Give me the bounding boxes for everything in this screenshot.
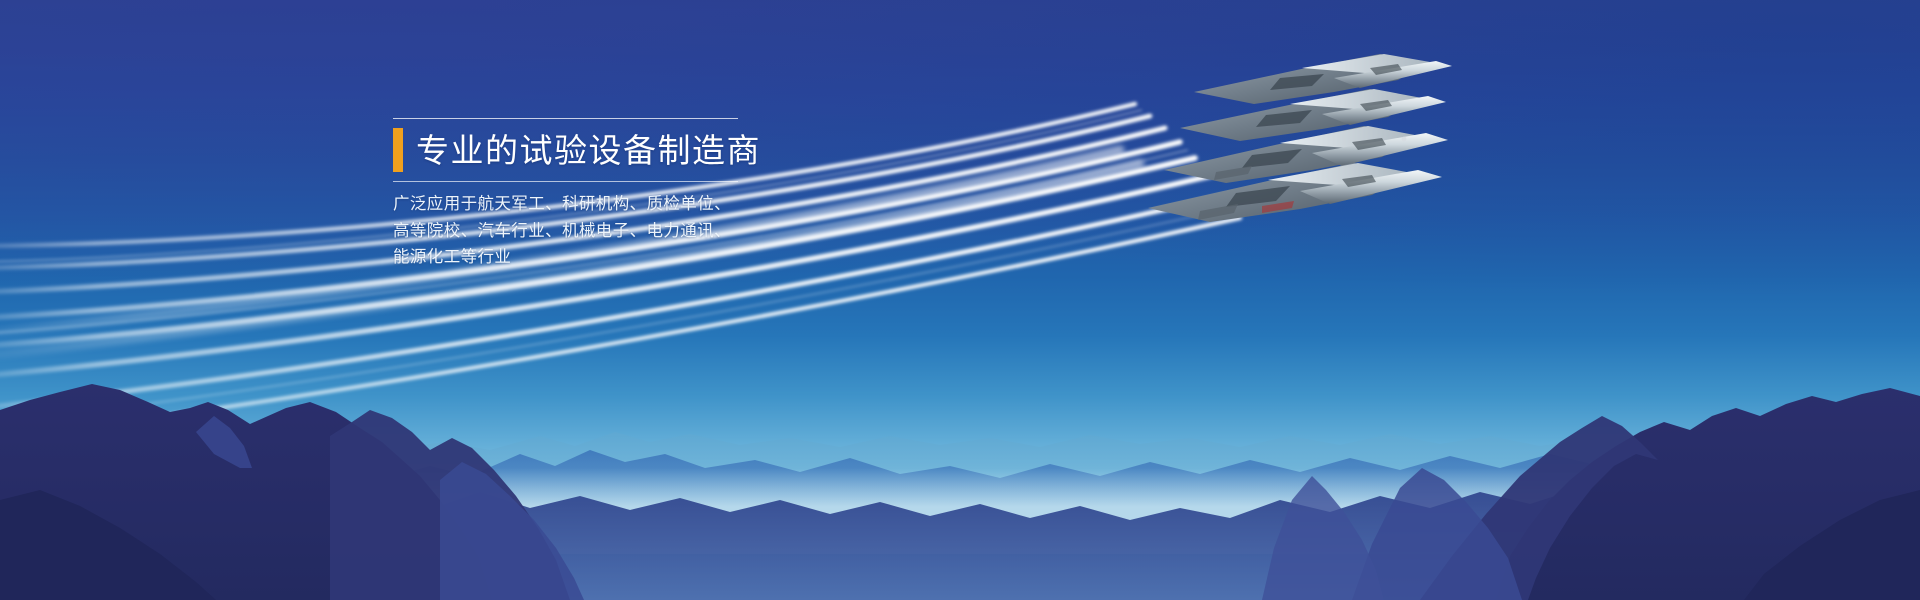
subtitle-line-1: 广泛应用于航天军工、科研机构、质检单位、	[393, 191, 738, 218]
page-title: 专业的试验设备制造商	[416, 134, 761, 167]
accent-bar	[393, 128, 403, 172]
hero-banner: 专业的试验设备制造商 广泛应用于航天军工、科研机构、质检单位、 高等院校、汽车行…	[0, 0, 1920, 600]
jet-formation-icon	[1120, 40, 1540, 270]
headline-row: 专业的试验设备制造商	[393, 119, 738, 181]
mountain-range-silhouette	[0, 350, 1920, 600]
subtitle-line-2: 高等院校、汽车行业、机械电子、电力通讯、	[393, 218, 738, 245]
banner-copy: 专业的试验设备制造商 广泛应用于航天军工、科研机构、质检单位、 高等院校、汽车行…	[393, 118, 738, 271]
bottom-divider	[393, 181, 738, 182]
subtitle-line-3: 能源化工等行业	[393, 244, 738, 271]
banner-subtitle: 广泛应用于航天军工、科研机构、质检单位、 高等院校、汽车行业、机械电子、电力通讯…	[393, 191, 738, 271]
